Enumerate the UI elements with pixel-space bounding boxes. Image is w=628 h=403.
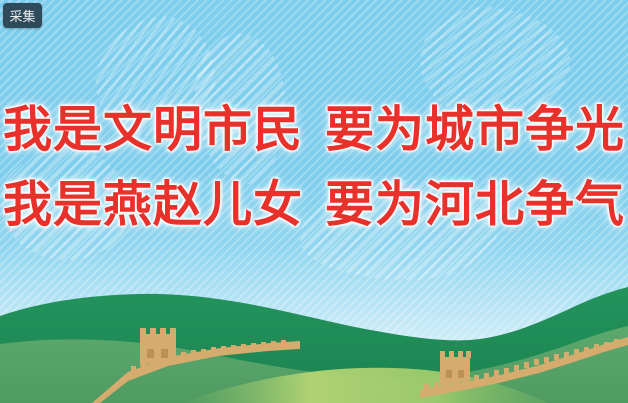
slogan-line-2-right: 要为河北争气 [325, 176, 625, 233]
capture-button[interactable]: 采集 [3, 3, 42, 28]
slogan-line-1: 我是文明市民要为城市争光 [0, 92, 628, 167]
slogan-line-1-right: 要为城市争光 [325, 101, 625, 158]
slogan-line-1-left: 我是文明市民 [3, 101, 303, 158]
banner-image: 我是文明市民要为城市争光 我是燕赵儿女要为河北争气 采集 [0, 0, 628, 403]
slogan-text-block: 我是文明市民要为城市争光 我是燕赵儿女要为河北争气 [0, 92, 628, 242]
slogan-line-2-left: 我是燕赵儿女 [3, 176, 303, 233]
slogan-line-2: 我是燕赵儿女要为河北争气 [0, 167, 628, 242]
